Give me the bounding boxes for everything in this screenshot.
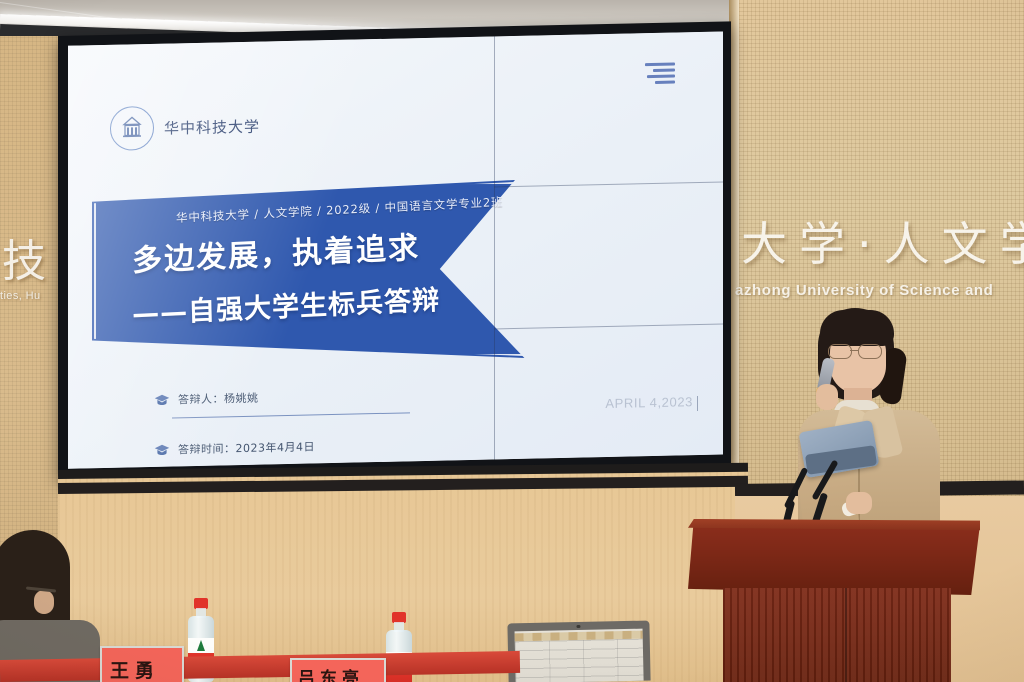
screen-surface: 华中科技大学 华中科技大学 / 人文学院 / 2022级 / 中国语言文学专业2… bbox=[68, 31, 723, 468]
right-wall-english-text: azhong University of Science and bbox=[735, 282, 993, 299]
podium-body bbox=[723, 588, 951, 682]
laptop-hinge bbox=[576, 625, 580, 628]
title-ribbon-banner: 华中科技大学 / 人文学院 / 2022级 / 中国语言文学专业2班 多边发展，… bbox=[92, 175, 562, 363]
university-logo-lockup: 华中科技大学 bbox=[110, 104, 260, 151]
video-wall-display[interactable]: 华中科技大学 华中科技大学 / 人文学院 / 2022级 / 中国语言文学专业2… bbox=[58, 21, 731, 479]
pine-tree-icon bbox=[197, 640, 205, 651]
presenter-meta-text: 答辩人：杨姚姚 bbox=[178, 390, 259, 408]
podium-top bbox=[688, 519, 980, 595]
presenter-meta-rule bbox=[172, 412, 410, 418]
date-meta-text: 答辩时间：2023年4月4日 bbox=[178, 438, 315, 457]
name-placard-text: 王勇 bbox=[110, 656, 160, 682]
judge-ear bbox=[34, 590, 54, 614]
presenter-glasses bbox=[828, 344, 886, 357]
graduation-cap-icon bbox=[154, 393, 170, 406]
graduation-cap-icon bbox=[154, 443, 170, 456]
left-wall-chinese-text: 技 bbox=[2, 225, 48, 289]
name-placard: 王勇 bbox=[100, 646, 184, 682]
lecture-hall-photo: 技 ties, Hu 大学·人文学 azhong University of S… bbox=[0, 0, 1024, 682]
left-wall-english-text: ties, Hu bbox=[0, 290, 41, 302]
presenter-fringe bbox=[820, 310, 894, 346]
stacked-lines-icon bbox=[645, 63, 675, 88]
name-placard: 吕东亮 bbox=[290, 658, 386, 682]
laptop[interactable] bbox=[507, 621, 650, 682]
date-meta-row: 答辩时间：2023年4月4日 bbox=[154, 438, 315, 458]
name-placard-text: 吕东亮 bbox=[298, 664, 364, 682]
right-wall-chinese-text: 大学·人文学 bbox=[741, 208, 1024, 274]
podium-corner-edge bbox=[845, 588, 847, 682]
presenter bbox=[790, 300, 960, 540]
slide-date-stamp: APRIL 4,2023 bbox=[605, 394, 693, 411]
laptop-screen-rows bbox=[515, 639, 644, 682]
presenter-meta-row: 答辩人：杨姚姚 bbox=[154, 390, 259, 408]
presentation-slide: 华中科技大学 华中科技大学 / 人文学院 / 2022级 / 中国语言文学专业2… bbox=[68, 31, 723, 468]
text-caret bbox=[697, 396, 698, 411]
laptop-screen bbox=[515, 629, 644, 682]
presenter-hand-upper bbox=[816, 384, 838, 410]
video-wall-seam-vertical bbox=[494, 36, 495, 459]
university-building-emblem-icon bbox=[110, 106, 154, 151]
university-logo-text: 华中科技大学 bbox=[164, 115, 260, 138]
presenter-hand-lower bbox=[846, 492, 872, 514]
